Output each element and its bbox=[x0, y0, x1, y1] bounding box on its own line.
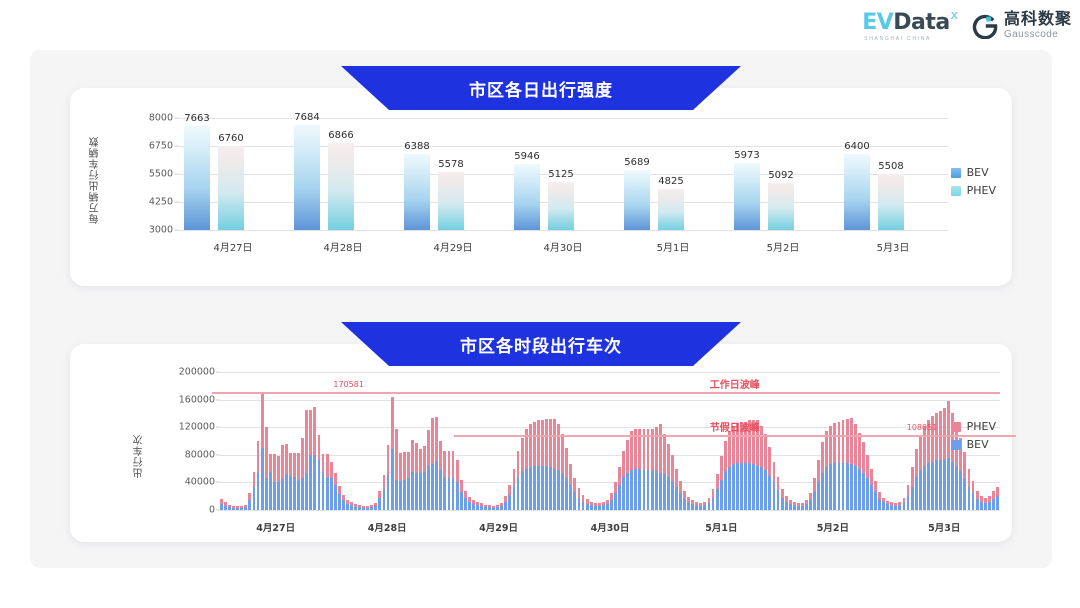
chart2-segment-bev bbox=[764, 470, 767, 510]
chart2-segment-phev bbox=[411, 440, 414, 472]
chart2-annotation-label: 节假日波峰 bbox=[710, 419, 760, 434]
chart2-segment-bev bbox=[634, 469, 637, 510]
chart2-x-tick-label: 4月28日 bbox=[368, 520, 407, 534]
chart2-segment-phev bbox=[695, 502, 698, 505]
chart2-segment-bev bbox=[370, 507, 373, 510]
chart2-segment-bev bbox=[439, 470, 442, 510]
chart2-segment-bev bbox=[586, 504, 589, 510]
chart2-segment-bev bbox=[976, 499, 979, 510]
chart2-segment-phev bbox=[764, 434, 767, 470]
chart1-bar-group[interactable]: 64005508 bbox=[838, 118, 948, 230]
chart2-segment-phev bbox=[297, 453, 300, 479]
chart2-segment-bev bbox=[472, 504, 475, 510]
evdata-wordmark: EVData x bbox=[862, 10, 958, 35]
chart2-segment-bev bbox=[565, 478, 568, 510]
chart2-segment-phev bbox=[610, 493, 613, 500]
chart2-segment-phev bbox=[484, 505, 487, 507]
chart2-segment-bev bbox=[846, 463, 849, 510]
section-banner-2: 市区各时段出行车次 bbox=[341, 322, 741, 366]
chart2-segment-bev bbox=[460, 492, 463, 510]
chart2-segment-bev bbox=[651, 471, 654, 510]
chart2-segment-bev bbox=[874, 492, 877, 510]
chart2-segment-bev bbox=[878, 499, 881, 510]
chart2-segment-bev bbox=[545, 466, 548, 510]
chart2-segment-bev bbox=[732, 464, 735, 510]
chart1-bar-group[interactable]: 76846866 bbox=[288, 118, 398, 230]
chart2-legend-item-bev[interactable]: BEV bbox=[951, 438, 996, 451]
chart2-segment-bev bbox=[533, 466, 536, 510]
slide-page: EVData x SHANGHAI CHINA 高科数聚 Gausscode 市… bbox=[0, 0, 1080, 608]
chart2-segment-phev bbox=[565, 448, 568, 478]
chart2-segment-bev bbox=[366, 508, 369, 510]
chart1-y-axis-label: 每万辆出行车辆数 bbox=[88, 124, 103, 224]
chart1-bar-value-label: 5973 bbox=[734, 150, 759, 161]
chart2-segment-bev bbox=[740, 463, 743, 510]
chart2-segment-bev bbox=[679, 493, 682, 510]
chart2-x-tick-label: 4月29日 bbox=[479, 520, 518, 534]
chart2-segment-bev bbox=[959, 471, 962, 510]
chart2-segment-bev bbox=[602, 505, 605, 510]
chart2-segment-bev bbox=[736, 463, 739, 510]
chart2-segment-bev bbox=[988, 502, 991, 510]
chart2-segment-bev bbox=[768, 476, 771, 511]
chart2-peak-value-label: 108051 bbox=[907, 423, 938, 432]
chart2-segment-phev bbox=[850, 418, 853, 465]
chart2-segment-phev bbox=[220, 499, 223, 505]
chart2-segment-phev bbox=[448, 451, 451, 479]
chart2-segment-phev bbox=[358, 505, 361, 507]
chart2-segment-bev bbox=[224, 506, 227, 510]
chart2-segment-bev bbox=[963, 478, 966, 510]
chart2-segment-bev bbox=[334, 485, 337, 510]
chart2-segment-bev bbox=[805, 504, 808, 510]
chart2-segment-bev bbox=[781, 498, 784, 510]
chart2-segment-bev bbox=[980, 502, 983, 510]
chart2-segment-phev bbox=[383, 475, 386, 489]
chart2-segment-phev bbox=[996, 487, 999, 497]
chart2-segment-phev bbox=[391, 397, 394, 449]
chart2-segment-phev bbox=[842, 420, 845, 463]
chart2-segment-phev bbox=[545, 419, 548, 466]
chart2-segment-bev bbox=[476, 505, 479, 510]
chart2-segment-bev bbox=[293, 477, 296, 510]
chart2-segment-bev bbox=[452, 478, 455, 510]
chart2-segment-phev bbox=[496, 505, 499, 507]
chart2-segment-bev bbox=[667, 477, 670, 510]
chart2-segment-phev bbox=[553, 419, 556, 469]
chart1-bar-phev[interactable]: 5508 bbox=[878, 174, 904, 230]
chart2-segment-bev bbox=[228, 507, 231, 510]
chart2-x-tick-label: 5月1日 bbox=[705, 520, 737, 534]
chart2-segment-bev bbox=[525, 469, 528, 510]
chart2-segment-bev bbox=[269, 472, 272, 510]
chart1-y-tick-label: 8000 bbox=[149, 113, 173, 124]
chart2-segment-bev bbox=[821, 473, 824, 510]
chart2-segment-phev bbox=[439, 441, 442, 470]
chart2-segment-phev bbox=[630, 431, 633, 470]
chart2-segment-bev bbox=[638, 469, 641, 510]
chart2-gridline bbox=[220, 510, 1000, 511]
chart2-segment-phev bbox=[943, 408, 946, 459]
chart2-segment-phev bbox=[500, 503, 503, 506]
chart1-y-tick-label: 5500 bbox=[149, 169, 173, 180]
chart2-segment-phev bbox=[898, 502, 901, 505]
chart2-segment-bev bbox=[691, 504, 694, 510]
chart2-segment-phev bbox=[894, 503, 897, 506]
chart2-y-tick-label: 40000 bbox=[185, 477, 215, 488]
chart1-bar-phev[interactable]: 6760 bbox=[218, 146, 244, 230]
chart2-segment-bev bbox=[456, 482, 459, 510]
chart2-segment-bev bbox=[610, 500, 613, 510]
chart1-bar-value-label: 7663 bbox=[184, 113, 209, 124]
chart1-x-tick-label: 4月28日 bbox=[323, 239, 362, 254]
chart2-segment-phev bbox=[468, 497, 471, 503]
chart2-segment-bev bbox=[537, 466, 540, 510]
chart2-segment-phev bbox=[903, 498, 906, 504]
chart2-segment-phev bbox=[911, 467, 914, 486]
chart2-segment-bev bbox=[984, 503, 987, 510]
evdata-superscript: x bbox=[951, 7, 958, 22]
chart1-gridline bbox=[178, 230, 948, 231]
chart1-bar-group[interactable]: 59465125 bbox=[508, 118, 618, 230]
chart1-x-tick-label: 5月2日 bbox=[767, 239, 800, 254]
chart2-segment-phev bbox=[992, 491, 995, 499]
chart2-segment-bev bbox=[248, 500, 251, 510]
chart2-segment-phev bbox=[708, 498, 711, 503]
chart2-segment-bev bbox=[265, 478, 268, 510]
chart2-segment-phev bbox=[626, 440, 629, 473]
chart1-y-tick-label: 3000 bbox=[149, 225, 173, 236]
chart1-bar-group[interactable]: 56894825 bbox=[618, 118, 728, 230]
chart2-segment-phev bbox=[281, 445, 284, 479]
chart2-segment-phev bbox=[984, 498, 987, 503]
chart2-segment-phev bbox=[305, 410, 308, 473]
chart2-segment-bev bbox=[301, 478, 304, 510]
chart1-legend-swatch bbox=[951, 186, 961, 196]
chart2-segment-phev bbox=[557, 424, 560, 470]
chart2-segment-phev bbox=[724, 441, 727, 471]
chart2-segment-bev bbox=[825, 467, 828, 510]
chart2-segment-phev bbox=[346, 500, 349, 503]
chart1-legend-label: BEV bbox=[967, 166, 989, 179]
chart2-segment-bev bbox=[590, 505, 593, 510]
chart2-segment-bev bbox=[647, 470, 650, 510]
chart2-segment-bev bbox=[346, 504, 349, 510]
chart2-segment-bev bbox=[358, 507, 361, 510]
chart2-segment-phev bbox=[561, 434, 564, 473]
chart2-segment-phev bbox=[854, 424, 857, 465]
chart2-segment-phev bbox=[773, 462, 776, 483]
chart2-segment-phev bbox=[399, 453, 402, 481]
chart2-segment-bev bbox=[630, 470, 633, 510]
chart1-bar-group[interactable]: 63885578 bbox=[398, 118, 508, 230]
chart2-segment-phev bbox=[435, 417, 438, 461]
chart2-segment-bev bbox=[829, 464, 832, 510]
chart1-bar-value-label: 6866 bbox=[328, 130, 353, 141]
chart2-segment-phev bbox=[403, 452, 406, 480]
chart2-segment-bev bbox=[671, 481, 674, 510]
chart2-segment-bev bbox=[513, 485, 516, 510]
chart2-y-tick-label: 0 bbox=[209, 505, 215, 516]
chart2-segment-bev bbox=[797, 506, 800, 510]
chart2-segment-bev bbox=[951, 462, 954, 510]
chart2-segment-phev bbox=[976, 491, 979, 499]
chart2-segment-bev bbox=[728, 467, 731, 510]
chart2-segment-bev bbox=[675, 487, 678, 510]
chart1-legend: BEVPHEV bbox=[951, 166, 996, 202]
chart1-bar-group[interactable]: 59735092 bbox=[728, 118, 838, 230]
chart2-segment-phev bbox=[407, 452, 410, 478]
chart2-segment-phev bbox=[257, 441, 260, 472]
chart2-segment-phev bbox=[265, 427, 268, 478]
chart2-segment-bev bbox=[894, 506, 897, 510]
chart2-legend-swatch bbox=[951, 440, 961, 450]
chart1-bar-bev[interactable]: 5689 bbox=[624, 170, 650, 230]
chart1-bar-group[interactable]: 76636760 bbox=[178, 118, 288, 230]
chart2-segment-phev bbox=[517, 451, 520, 477]
chart2-segment-phev bbox=[464, 491, 467, 499]
chart2-segment-bev bbox=[313, 455, 316, 510]
chart2-annotation-line bbox=[212, 392, 1000, 394]
chart2-segment-phev bbox=[578, 488, 581, 498]
chart2-segment-phev bbox=[980, 496, 983, 502]
chart2-segment-bev bbox=[720, 480, 723, 510]
chart2-segment-bev bbox=[553, 469, 556, 510]
chart2-segment-phev bbox=[476, 502, 479, 505]
chart2-segment-bev bbox=[923, 466, 926, 510]
chart2-segment-phev bbox=[395, 429, 398, 480]
chart2-segment-bev bbox=[411, 472, 414, 510]
chart2-segment-phev bbox=[472, 500, 475, 504]
chart2-segment-bev bbox=[415, 473, 418, 510]
chart2-segment-phev bbox=[330, 462, 333, 479]
chart1-bar-phev[interactable]: 5125 bbox=[548, 182, 574, 230]
chart2-segment-phev bbox=[423, 446, 426, 472]
chart1-bar-phev[interactable]: 4825 bbox=[658, 189, 684, 230]
chart2-segment-phev bbox=[622, 451, 625, 477]
section-banner-2-title: 市区各时段出行车次 bbox=[460, 332, 622, 357]
chart2-segment-phev bbox=[228, 505, 231, 508]
chart2-segment-phev bbox=[833, 423, 836, 463]
chart2-segment-bev bbox=[464, 498, 467, 510]
chart1-bar-bev[interactable]: 7684 bbox=[294, 125, 320, 230]
chart2-segment-phev bbox=[285, 444, 288, 474]
chart1-bar-phev[interactable]: 6866 bbox=[328, 143, 354, 230]
chart2-segment-phev bbox=[378, 491, 381, 498]
chart2-segment-bev bbox=[594, 506, 597, 510]
chart2-segment-phev bbox=[370, 505, 373, 507]
chart2-segment-phev bbox=[813, 478, 816, 492]
chart2-segment-phev bbox=[768, 447, 771, 476]
chart2-segment-bev bbox=[289, 476, 292, 511]
chart2-segment-phev bbox=[870, 469, 873, 486]
chart2-segment-phev bbox=[785, 496, 788, 502]
evdata-tagline: SHANGHAI CHINA bbox=[864, 36, 931, 42]
chart1-bar-value-label: 6400 bbox=[844, 141, 869, 152]
chart2-segment-bev bbox=[931, 462, 934, 510]
chart2-plot-area: 040000800001200001600002000004月27日4月28日4… bbox=[220, 372, 1000, 510]
chart2-segment-phev bbox=[419, 449, 422, 473]
chart2-segment-phev bbox=[334, 473, 337, 485]
chart2-segment-bev bbox=[354, 507, 357, 510]
chart2-segment-bev bbox=[777, 491, 780, 510]
chart2-segment-phev bbox=[874, 481, 877, 492]
chart2-segment-bev bbox=[903, 503, 906, 510]
chart1-x-tick-label: 4月30日 bbox=[543, 239, 582, 254]
chart2-segment-phev bbox=[703, 502, 706, 505]
chart1-bar-phev[interactable]: 5092 bbox=[768, 183, 794, 230]
chart2-segment-bev bbox=[972, 493, 975, 510]
chart1-bar-bev[interactable]: 6388 bbox=[404, 154, 430, 230]
chart2-legend-item-phev[interactable]: PHEV bbox=[951, 420, 996, 433]
chart2-segment-bev bbox=[687, 502, 690, 510]
chart2-segment-bev bbox=[427, 466, 430, 510]
chart2-segment-bev bbox=[496, 507, 499, 510]
chart2-segment-phev bbox=[586, 499, 589, 504]
chart1-x-tick-label: 4月29日 bbox=[433, 239, 472, 254]
chart2-segment-bev bbox=[862, 473, 865, 510]
chart2-segment-phev bbox=[671, 455, 674, 481]
chart2-segment-phev bbox=[659, 424, 662, 472]
chart2-segment-phev bbox=[350, 502, 353, 505]
chart2-segment-bev bbox=[244, 507, 247, 510]
chart2-segment-bev bbox=[789, 504, 792, 510]
chart2-segment-bev bbox=[297, 480, 300, 510]
chart2-segment-bev bbox=[598, 506, 601, 510]
chart2-segment-phev bbox=[683, 491, 686, 499]
chart1-bar-bev[interactable]: 5946 bbox=[514, 164, 540, 230]
chart2-segment-bev bbox=[870, 485, 873, 510]
chart2-segment-phev bbox=[342, 495, 345, 501]
chart2-segment-bev bbox=[220, 504, 223, 510]
chart2-segment-bev bbox=[683, 499, 686, 510]
chart2-segment-phev bbox=[289, 453, 292, 476]
chart2-x-tick-label: 5月2日 bbox=[817, 520, 849, 534]
chart2-segment-bev bbox=[695, 505, 698, 510]
chart2-segment-bev bbox=[330, 478, 333, 510]
content-panel: 市区各日出行强度 每万辆出行车辆数 3000425055006750800076… bbox=[30, 50, 1052, 568]
chart2-segment-phev bbox=[793, 502, 796, 505]
chart2-segment-phev bbox=[240, 506, 243, 508]
chart2-segment-bev bbox=[549, 467, 552, 510]
chart2-segment-phev bbox=[366, 506, 369, 508]
chart2-segment-bev bbox=[712, 498, 715, 510]
chart2-segment-phev bbox=[716, 474, 719, 489]
gausscode-en-name: Gausscode bbox=[1004, 30, 1072, 40]
chart2-segment-bev bbox=[882, 502, 885, 510]
chart2-segment-bev bbox=[407, 478, 410, 510]
chart1-bar-value-label: 5946 bbox=[514, 151, 539, 162]
chart2-segment-phev bbox=[537, 420, 540, 466]
chart2-segment-phev bbox=[760, 426, 763, 467]
chart2-segment-phev bbox=[460, 480, 463, 492]
chart2-segment-bev bbox=[504, 502, 507, 510]
chart2-segment-phev bbox=[443, 451, 446, 477]
chart2-segment-bev bbox=[915, 477, 918, 510]
evdata-data-part: Data bbox=[893, 10, 949, 35]
chart2-legend: PHEVBEV bbox=[951, 420, 996, 456]
chart2-segment-bev bbox=[529, 467, 532, 510]
chart2-segment-bev bbox=[756, 466, 759, 510]
chart2-segment-phev bbox=[821, 442, 824, 472]
chart2-segment-bev bbox=[443, 477, 446, 510]
section-banner-1-title: 市区各日出行强度 bbox=[469, 76, 613, 101]
chart2-segment-bev bbox=[261, 448, 264, 510]
chart2-segment-phev bbox=[797, 503, 800, 506]
chart2-legend-swatch bbox=[951, 422, 961, 432]
chart1-bar-bev[interactable]: 6400 bbox=[844, 154, 870, 230]
chart2-segment-bev bbox=[606, 504, 609, 510]
chart2-segment-phev bbox=[533, 422, 536, 466]
chart2-segment-bev bbox=[383, 489, 386, 510]
chart2-segment-bev bbox=[305, 473, 308, 510]
chart2-segment-phev bbox=[919, 435, 922, 470]
chart1-legend-item-bev[interactable]: BEV bbox=[951, 166, 996, 179]
chart2-segment-bev bbox=[752, 464, 755, 510]
chart1-bar-value-label: 5689 bbox=[624, 157, 649, 168]
chart1-y-tick-label: 4250 bbox=[149, 197, 173, 208]
chart2-segment-phev bbox=[480, 503, 483, 506]
chart2-segment-bev bbox=[517, 477, 520, 510]
chart2-segment-bev bbox=[362, 508, 365, 510]
chart2-segment-phev bbox=[789, 500, 792, 504]
chart2-segment-bev bbox=[322, 471, 325, 510]
chart2-segment-bev bbox=[809, 500, 812, 510]
chart2-segment-bev bbox=[508, 495, 511, 510]
chart2-segment-phev bbox=[598, 503, 601, 506]
chart2-segment-phev bbox=[720, 456, 723, 479]
chart2-segment-phev bbox=[236, 506, 239, 508]
chart2-segment-bev bbox=[484, 507, 487, 510]
chart2-segment-phev bbox=[322, 454, 325, 471]
chart2-segment-bev bbox=[387, 475, 390, 510]
chart1-bar-value-label: 5125 bbox=[548, 169, 573, 180]
chart2-segment-bev bbox=[935, 460, 938, 510]
chart2-segment-phev bbox=[309, 410, 312, 455]
chart1-bar-bev[interactable]: 7663 bbox=[184, 126, 210, 230]
chart2-y-tick-label: 160000 bbox=[179, 394, 215, 405]
chart2-segment-bev bbox=[285, 474, 288, 510]
chart2-segment-bev bbox=[817, 482, 820, 510]
chart2-segment-bev bbox=[943, 459, 946, 510]
chart2-segment-phev bbox=[529, 424, 532, 467]
chart2-segment-phev bbox=[326, 454, 329, 477]
chart1-bar-bev[interactable]: 5973 bbox=[734, 163, 760, 230]
chart2-segment-phev bbox=[915, 449, 918, 477]
chart2-segment-phev bbox=[988, 496, 991, 502]
chart2-segment-bev bbox=[318, 460, 321, 510]
logo-bar: EVData x SHANGHAI CHINA 高科数聚 Gausscode bbox=[862, 10, 1072, 42]
chart2-segment-bev bbox=[342, 500, 345, 510]
chart2-segment-phev bbox=[618, 467, 621, 485]
chart2-segment-phev bbox=[573, 478, 576, 492]
chart2-segment-bev bbox=[240, 508, 243, 510]
chart2-segment-phev bbox=[273, 454, 276, 482]
chart2-segment-bev bbox=[573, 492, 576, 510]
chart2-segment-bev bbox=[561, 473, 564, 510]
chart1-bar-phev[interactable]: 5578 bbox=[438, 172, 464, 230]
chart2-segment-bev bbox=[833, 463, 836, 510]
chart2-segment-bev bbox=[716, 489, 719, 510]
chart2-y-tick-label: 200000 bbox=[179, 367, 215, 378]
chart2-segment-phev bbox=[569, 464, 572, 485]
chart1-legend-item-phev[interactable]: PHEV bbox=[951, 184, 996, 197]
chart2-segment-phev bbox=[456, 460, 459, 482]
chart2-segment-phev bbox=[261, 392, 264, 448]
chart2-segment-bev bbox=[626, 473, 629, 510]
chart1-x-tick-label: 4月27日 bbox=[213, 239, 252, 254]
gausscode-text: 高科数聚 Gausscode bbox=[1004, 12, 1072, 40]
